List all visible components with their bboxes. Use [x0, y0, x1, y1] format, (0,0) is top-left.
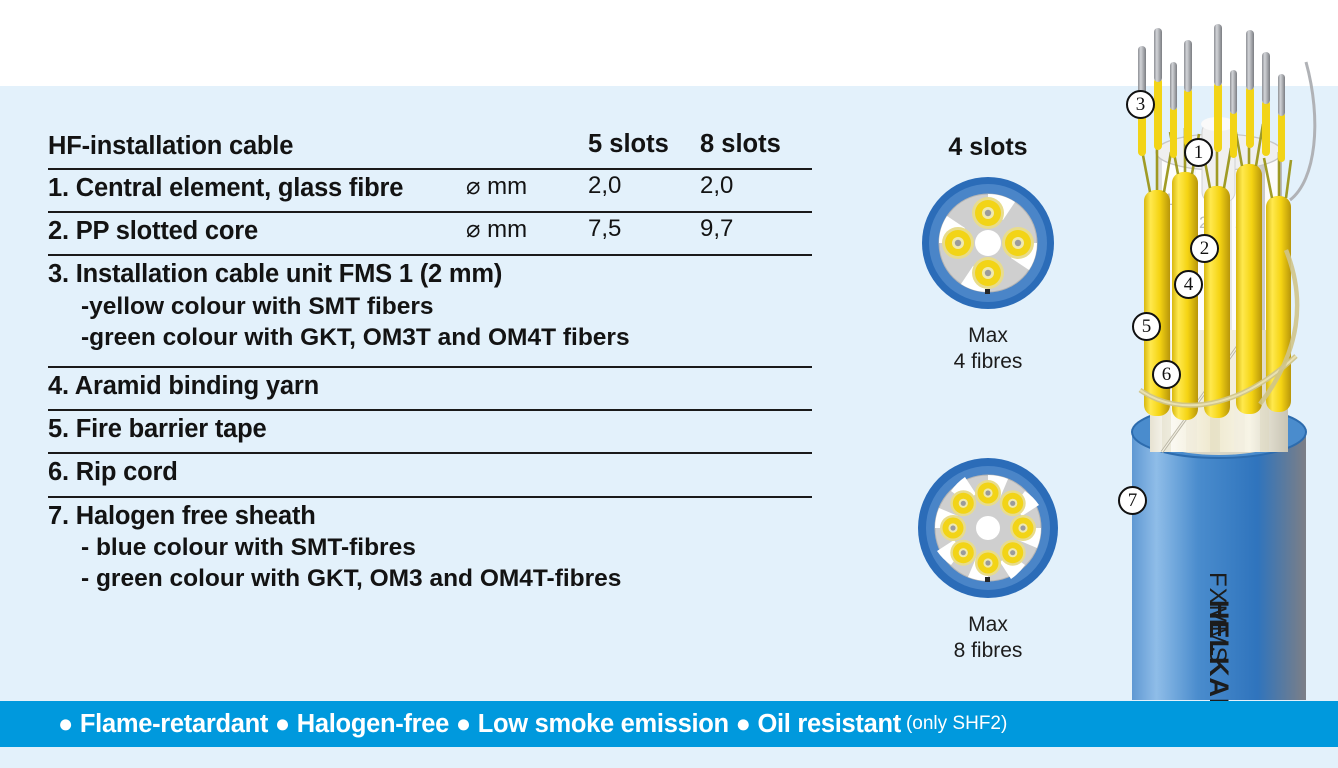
cross-section-8-slots: Max 8 fibres	[888, 455, 1088, 663]
column-header-8-slots: 8 slots	[700, 130, 800, 159]
row-value-5slots-central-element: 2,0	[588, 172, 700, 200]
caption-line-count: 4 fibres	[888, 349, 1088, 375]
subline: - blue colour with SMT-fibres	[81, 532, 621, 563]
callout-1: 1	[1184, 138, 1213, 167]
table-row: 4. Aramid binding yarn	[48, 368, 812, 411]
table-row: 3. Installation cable unit FMS 1 (2 mm) …	[48, 256, 812, 368]
caption-line-max: Max	[888, 323, 1088, 349]
item-sublines-7: - blue colour with SMT-fibres - green co…	[48, 532, 621, 595]
item-label-fire-barrier-tape: 5. Fire barrier tape	[48, 413, 466, 445]
table-row: 7. Halogen free sheath - blue colour wit…	[48, 498, 812, 608]
column-header-5-slots: 5 slots	[588, 130, 700, 159]
cross-section-caption-4-fibres: Max 4 fibres	[888, 323, 1088, 374]
table-row: 2. PP slotted core ⌀ mm 7,5 9,7	[48, 213, 812, 256]
item-label-installation-cable-unit: 3. Installation cable unit FMS 1 (2 mm)	[48, 258, 630, 290]
subline: -green colour with GKT, OM3T and OM4T fi…	[81, 322, 630, 353]
row-label-pp-slotted-core: 2. PP slotted core	[48, 215, 466, 247]
callout-2: 2	[1190, 234, 1219, 263]
cross-section-title-4-slots: 4 slots	[888, 133, 1088, 162]
callout-7: 7	[1118, 486, 1147, 515]
cross-section-diagram-4-fibres	[919, 174, 1057, 312]
caption-line-count: 8 fibres	[888, 638, 1088, 664]
table-row: 5. Fire barrier tape	[48, 411, 812, 454]
list-item-7: 7. Halogen free sheath - blue colour wit…	[48, 500, 621, 601]
callout-3: 3	[1126, 90, 1155, 119]
cable-product-code-text: FXMMS	[1204, 572, 1231, 664]
diagram-page: HF-installation cable 5 slots 8 slots 1.…	[0, 0, 1338, 768]
table-title: HF-installation cable	[48, 130, 466, 162]
item-label-aramid-binding-yarn: 4. Aramid binding yarn	[48, 370, 466, 402]
cross-section-4-slots: 4 slots	[888, 133, 1088, 374]
item-label-rip-cord: 6. Rip cord	[48, 456, 466, 488]
row-unit-central-element: ⌀ mm	[466, 172, 588, 201]
features-banner: ● Flame-retardant ● Halogen-free ● Low s…	[0, 701, 1338, 747]
cross-section-diagram-8-fibres	[915, 455, 1061, 601]
specification-table: HF-installation cable 5 slots 8 slots 1.…	[48, 128, 812, 607]
row-unit-pp-slotted-core: ⌀ mm	[466, 215, 588, 244]
subline: -yellow colour with SMT fibers	[81, 291, 630, 322]
callout-5: 5	[1132, 312, 1161, 341]
table-row: 1. Central element, glass fibre ⌀ mm 2,0…	[48, 170, 812, 213]
banner-note-text: (only SHF2)	[906, 713, 1007, 735]
table-row: 6. Rip cord	[48, 454, 812, 497]
table-header-row: HF-installation cable 5 slots 8 slots	[48, 128, 812, 170]
callout-6: 6	[1152, 360, 1181, 389]
subline: - green colour with GKT, OM3 and OM4T-fi…	[81, 563, 621, 594]
row-value-8slots-pp-slotted-core: 9,7	[700, 215, 800, 243]
callout-4: 4	[1174, 270, 1203, 299]
cable-cutaway-illustration: 1 2 3 4	[1110, 0, 1338, 710]
cross-section-caption-8-fibres: Max 8 fibres	[888, 612, 1088, 663]
item-label-halogen-free-sheath: 7. Halogen free sheath	[48, 500, 621, 532]
row-value-5slots-pp-slotted-core: 7,5	[588, 215, 700, 243]
banner-features-text: ● Flame-retardant ● Halogen-free ● Low s…	[0, 710, 901, 739]
item-sublines-3: -yellow colour with SMT fibers -green co…	[48, 291, 630, 354]
caption-line-max: Max	[888, 612, 1088, 638]
list-item-3: 3. Installation cable unit FMS 1 (2 mm) …	[48, 258, 630, 359]
row-value-8slots-central-element: 2,0	[700, 172, 800, 200]
row-label-central-element: 1. Central element, glass fibre	[48, 172, 466, 204]
